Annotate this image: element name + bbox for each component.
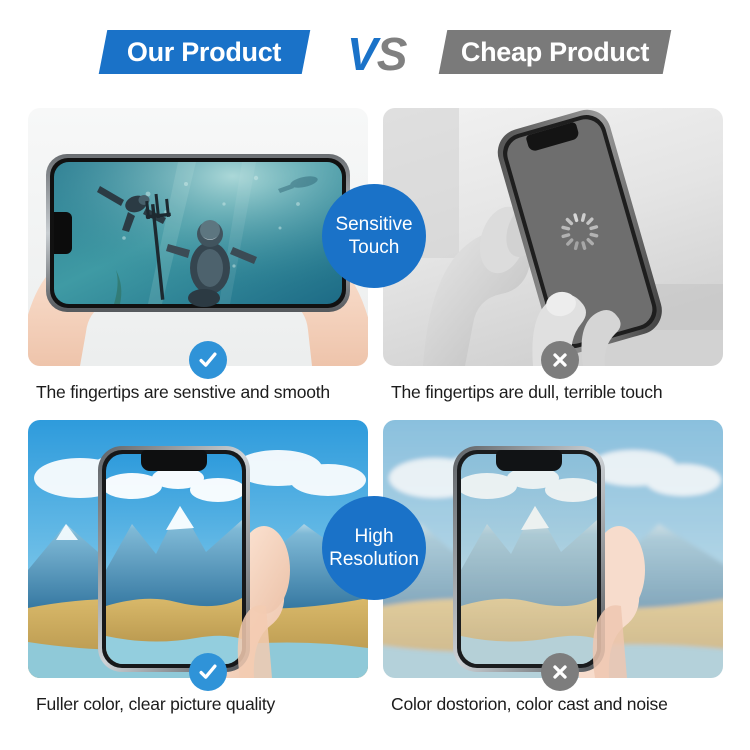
vs-label: VS [347,26,427,82]
phone-screen-vivid [102,454,246,664]
callout-sensitive-touch: Sensitive Touch [322,184,426,288]
panel-cheap-resolution-photo [383,420,723,678]
product-comparison-infographic: Our Product VS Cheap Product [0,0,750,750]
callout-line2: Touch [349,236,400,259]
cheap-product-badge: Cheap Product [439,30,672,74]
verdict-check-bottom-left [189,653,227,691]
comparison-header: Our Product VS Cheap Product [0,30,750,90]
callout-high-resolution: High Resolution [322,496,426,600]
panel-our-touch-photo [28,108,368,366]
our-product-label: Our Product [127,37,281,68]
phone-landscape [46,154,350,312]
phone-portrait [453,446,605,672]
grayscale-loading-phone-scene [383,108,723,366]
cheap-product-label: Cheap Product [461,37,649,68]
verdict-cross-top-right [541,341,579,379]
callout-line1: High [354,525,393,548]
underwater-game-phone-scene [28,108,368,366]
checkmark-icon [197,661,219,683]
vivid-mountain-scene [28,420,368,678]
phone-screen-degraded [457,454,601,664]
vs-letter-v: V [347,28,377,80]
caption-bottom-left: Fuller color, clear picture quality [36,694,275,715]
caption-bottom-right: Color dostorion, color cast and noise [391,694,668,715]
cross-icon [550,662,570,682]
callout-line2: Resolution [329,548,419,571]
caption-top-left: The fingertips are senstive and smooth [36,382,330,403]
washed-out-mountain-scene [383,420,723,678]
verdict-cross-bottom-right [541,653,579,691]
panel-cheap-touch-photo [383,108,723,366]
checkmark-icon [197,349,219,371]
phone-portrait [98,446,250,672]
callout-line1: Sensitive [335,213,412,236]
panel-our-resolution-photo [28,420,368,678]
vs-letter-s: S [377,28,407,80]
our-product-badge: Our Product [99,30,311,74]
cross-icon [550,350,570,370]
caption-top-right: The fingertips are dull, terrible touch [391,382,662,403]
verdict-check-top-left [189,341,227,379]
